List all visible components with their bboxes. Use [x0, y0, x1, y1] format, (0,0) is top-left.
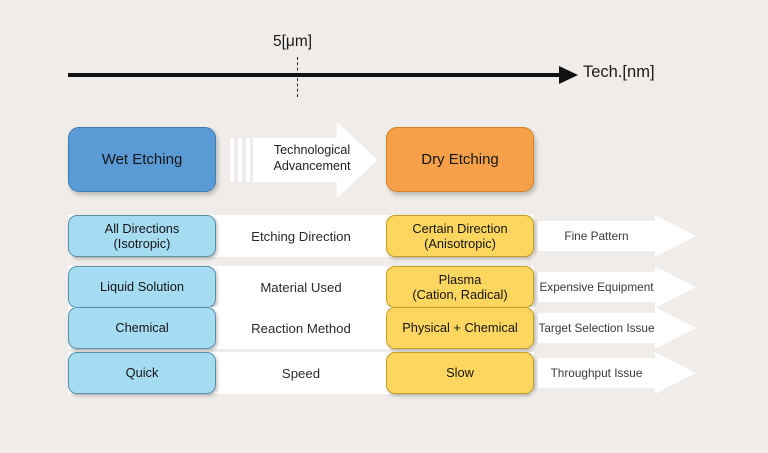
wet-attribute-pill[interactable]: Quick: [68, 352, 216, 394]
wet-attribute-pill[interactable]: All Directions (Isotropic): [68, 215, 216, 257]
attribute-name-label: Material Used: [216, 266, 386, 308]
comparison-row: Quick Speed Slow: [68, 352, 534, 394]
timeline-axis-label: Tech.[nm]: [583, 63, 655, 82]
dry-etching-box[interactable]: Dry Etching: [386, 127, 534, 192]
wet-attribute-line2: (Isotropic): [105, 236, 180, 251]
wet-attribute-line1: Chemical: [115, 320, 168, 335]
dry-attribute-line1: Plasma: [412, 272, 507, 287]
timeline-arrowhead-icon: [559, 66, 578, 84]
note-arrow-label: Fine Pattern: [538, 215, 655, 257]
dry-attribute-pill[interactable]: Plasma (Cation, Radical): [386, 266, 534, 308]
wet-attribute-line1: Liquid Solution: [100, 279, 184, 294]
note-arrow-label: Throughput Issue: [538, 352, 655, 394]
wet-attribute-line1: Quick: [126, 365, 159, 380]
dry-attribute-pill[interactable]: Certain Direction (Anisotropic): [386, 215, 534, 257]
dry-attribute-line2: (Cation, Radical): [412, 287, 507, 302]
dry-attribute-pill[interactable]: Physical + Chemical: [386, 307, 534, 349]
diagram-canvas: 5[μm] Tech.[nm] Wet Etching Technologica…: [0, 0, 768, 453]
wet-attribute-line1: All Directions: [105, 221, 180, 236]
attribute-name-label: Reaction Method: [216, 307, 386, 349]
note-arrow-label: Expensive Equipment: [538, 266, 655, 308]
advancement-stripe-1: [230, 138, 234, 182]
dry-attribute-line1: Slow: [446, 365, 474, 380]
advancement-label-line1: Technological: [256, 143, 368, 159]
comparison-row: Liquid Solution Material Used Plasma (Ca…: [68, 266, 534, 308]
wet-attribute-pill[interactable]: Chemical: [68, 307, 216, 349]
dry-attribute-line2: (Anisotropic): [412, 236, 507, 251]
wet-etching-box[interactable]: Wet Etching: [68, 127, 216, 192]
advancement-stripe-2: [238, 138, 242, 182]
note-arrow-label: Target Selection Issue: [538, 307, 655, 349]
comparison-row: All Directions (Isotropic) Etching Direc…: [68, 215, 534, 257]
comparison-row: Chemical Reaction Method Physical + Chem…: [68, 307, 534, 349]
attribute-name-label: Speed: [216, 352, 386, 394]
attribute-name-label: Etching Direction: [216, 215, 386, 257]
timeline-tick-label: 5[μm]: [273, 33, 312, 51]
dry-attribute-pill[interactable]: Slow: [386, 352, 534, 394]
advancement-stripe-3: [246, 138, 250, 182]
technological-advancement-label: Technological Advancement: [256, 143, 368, 174]
advancement-label-line2: Advancement: [256, 159, 368, 175]
dry-attribute-line1: Certain Direction: [412, 221, 507, 236]
wet-attribute-pill[interactable]: Liquid Solution: [68, 266, 216, 308]
timeline-axis-line: [68, 73, 565, 77]
timeline-tick-dashed-line: [297, 57, 298, 97]
dry-attribute-line1: Physical + Chemical: [402, 320, 518, 335]
